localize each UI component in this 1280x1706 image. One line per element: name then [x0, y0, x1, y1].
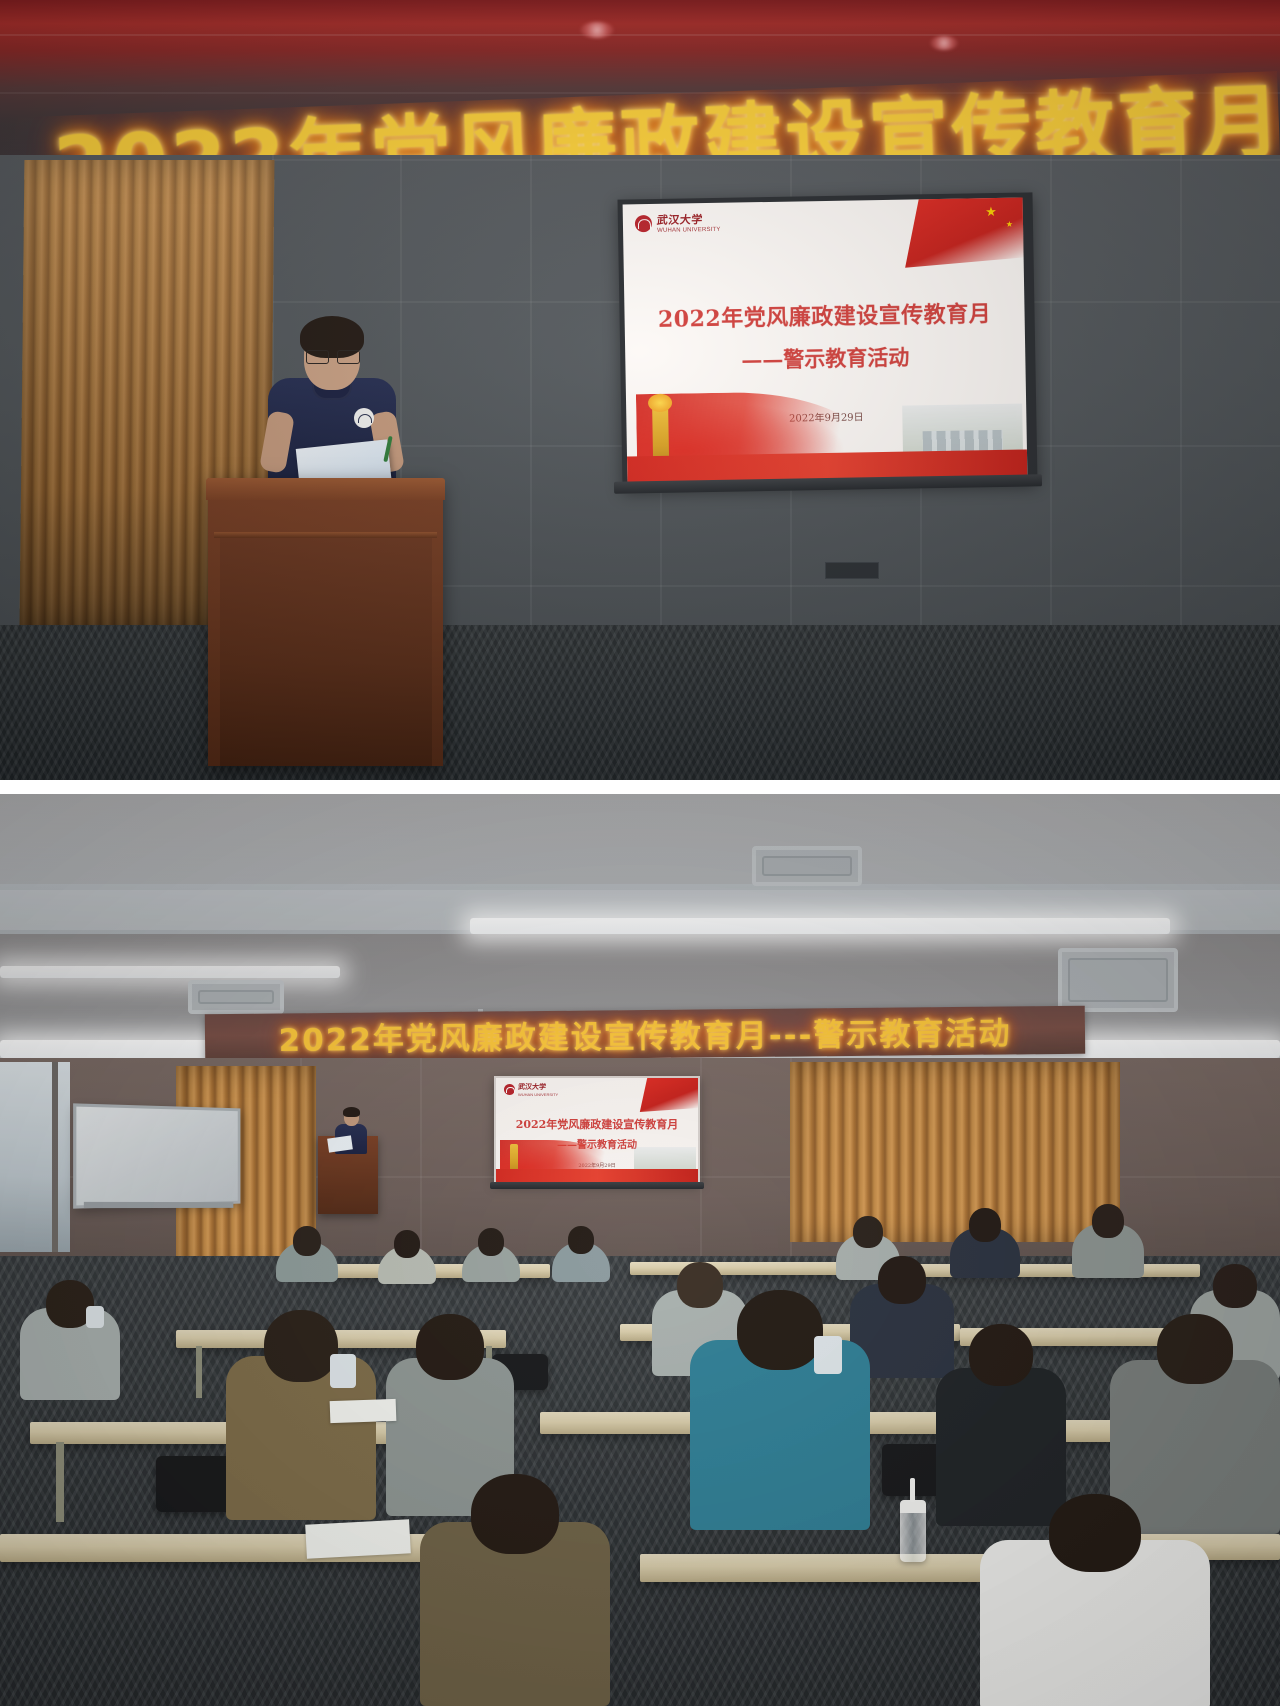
- window: [0, 1062, 70, 1252]
- air-vent-icon: [1058, 948, 1178, 1012]
- wall-seam: [1180, 155, 1182, 625]
- audience-head: [293, 1226, 321, 1256]
- face-mask-icon: [86, 1306, 104, 1328]
- carpet-floor: [0, 625, 1280, 780]
- whiteboard-tray: [84, 1202, 234, 1208]
- speaker-hair: [343, 1107, 360, 1117]
- university-logo-sub: WUHAN UNIVERSITY: [657, 227, 721, 234]
- desk-leg: [56, 1442, 64, 1522]
- desk-leg: [196, 1346, 202, 1398]
- panel-divider: [0, 780, 1280, 794]
- audience-head: [1157, 1314, 1233, 1384]
- water-bottle: [900, 1506, 926, 1562]
- flag-decoration: [905, 198, 1027, 268]
- university-logo: 武汉大学 WUHAN UNIVERSITY: [635, 211, 721, 234]
- air-vent-icon: [188, 980, 284, 1014]
- ceiling-light-icon: [930, 36, 958, 50]
- bottle-straw: [910, 1478, 915, 1502]
- flag-decoration: [640, 1076, 700, 1112]
- audience-member: [462, 1228, 520, 1280]
- chair: [156, 1456, 236, 1512]
- audience-head: [1213, 1264, 1257, 1308]
- star-icon: ★: [985, 204, 997, 220]
- led-banner-bottom-text: 2022年党风廉政建设宣传教育月---警示教育活动: [278, 1008, 1011, 1060]
- podium-top-surface: [206, 478, 445, 500]
- top-photo: 2022年党风廉政建设宣传教育月--- ★ ★: [0, 0, 1280, 780]
- projection-screen: ★ ★ 武汉大学 WUHAN UNIVERSITY 2022年党风廉政建设宣传教…: [623, 198, 1028, 483]
- projection-screen: 武汉大学 WUHAN UNIVERSITY 2022年党风廉政建设宣传教育月 —…: [494, 1076, 700, 1184]
- ceiling-shadow: [0, 794, 1280, 884]
- podium: [208, 478, 443, 766]
- audience-member: [690, 1290, 870, 1530]
- audience-head: [853, 1216, 883, 1248]
- led-banner-bottom: 2022年党风廉政建设宣传教育月---警示教育活动: [205, 1006, 1085, 1062]
- audience-member: [20, 1280, 120, 1400]
- audience-head: [878, 1256, 926, 1304]
- university-logo: 武汉大学 WUHAN UNIVERSITY: [504, 1082, 558, 1097]
- audience-head: [264, 1310, 338, 1382]
- audience-head: [394, 1230, 420, 1258]
- slide-title: 2022年党风廉政建设宣传教育月: [496, 1116, 698, 1132]
- university-logo-name: 武汉大学: [656, 211, 721, 228]
- star-icon: ★: [1006, 220, 1013, 229]
- document-papers: [330, 1399, 397, 1423]
- slide-footer-band: [496, 1169, 698, 1182]
- audience-member: [950, 1208, 1020, 1276]
- audience-head: [969, 1208, 1001, 1242]
- audience-head: [416, 1314, 484, 1380]
- speaker: [262, 316, 402, 491]
- audience-member: [980, 1494, 1210, 1706]
- photo-collage-page: 2022年党风廉政建设宣传教育月--- ★ ★: [0, 0, 1280, 1706]
- audience-head: [478, 1228, 504, 1256]
- slide-subtitle: ——警示教育活动: [625, 340, 1025, 377]
- audience-member: [420, 1474, 610, 1706]
- screen-roller-housing: [490, 1182, 704, 1189]
- document-papers: [305, 1519, 411, 1558]
- wall-seam: [530, 155, 532, 625]
- audience-member: [552, 1226, 610, 1280]
- wall-seam: [700, 1058, 702, 1288]
- ceiling-seam: [0, 34, 1280, 36]
- podium-front-panel: [220, 538, 432, 766]
- glasses-icon: [306, 350, 360, 362]
- wall-control-plate: [825, 562, 879, 579]
- audience-head: [1049, 1494, 1141, 1572]
- ceiling-light-strip: [0, 966, 340, 978]
- ceiling-light-icon: [580, 22, 614, 38]
- audience-member: [378, 1230, 436, 1282]
- face-mask-icon: [814, 1336, 842, 1374]
- whiteboard: [73, 1103, 240, 1208]
- face-mask-icon: [330, 1354, 356, 1388]
- university-emblem-icon: [635, 215, 652, 232]
- audience-head: [568, 1226, 594, 1254]
- audience-head: [969, 1324, 1033, 1386]
- window-mullion: [52, 1062, 58, 1252]
- speaker: [332, 1109, 368, 1155]
- slide-title: 2022年党风廉政建设宣传教育月: [624, 296, 1024, 335]
- university-emblem-icon: [504, 1084, 515, 1095]
- audience-head: [471, 1474, 559, 1554]
- wall-seam: [272, 159, 1280, 161]
- air-vent-icon: [752, 846, 862, 886]
- audience-head: [1092, 1204, 1124, 1238]
- audience-head: [737, 1290, 823, 1370]
- audience-member: [276, 1226, 338, 1280]
- university-logo-name: 武汉大学: [517, 1082, 558, 1092]
- university-logo-sub: WUHAN UNIVERSITY: [518, 1092, 558, 1097]
- ceiling-light-strip: [470, 918, 1170, 934]
- speaker-shirt-badge: [354, 408, 374, 428]
- audience-member: [1072, 1204, 1144, 1276]
- wall-seam: [1050, 155, 1052, 625]
- bottom-photo: 2022年党风廉政建设宣传教育月---警示教育活动 武汉大学 WUHAN UNI…: [0, 794, 1280, 1706]
